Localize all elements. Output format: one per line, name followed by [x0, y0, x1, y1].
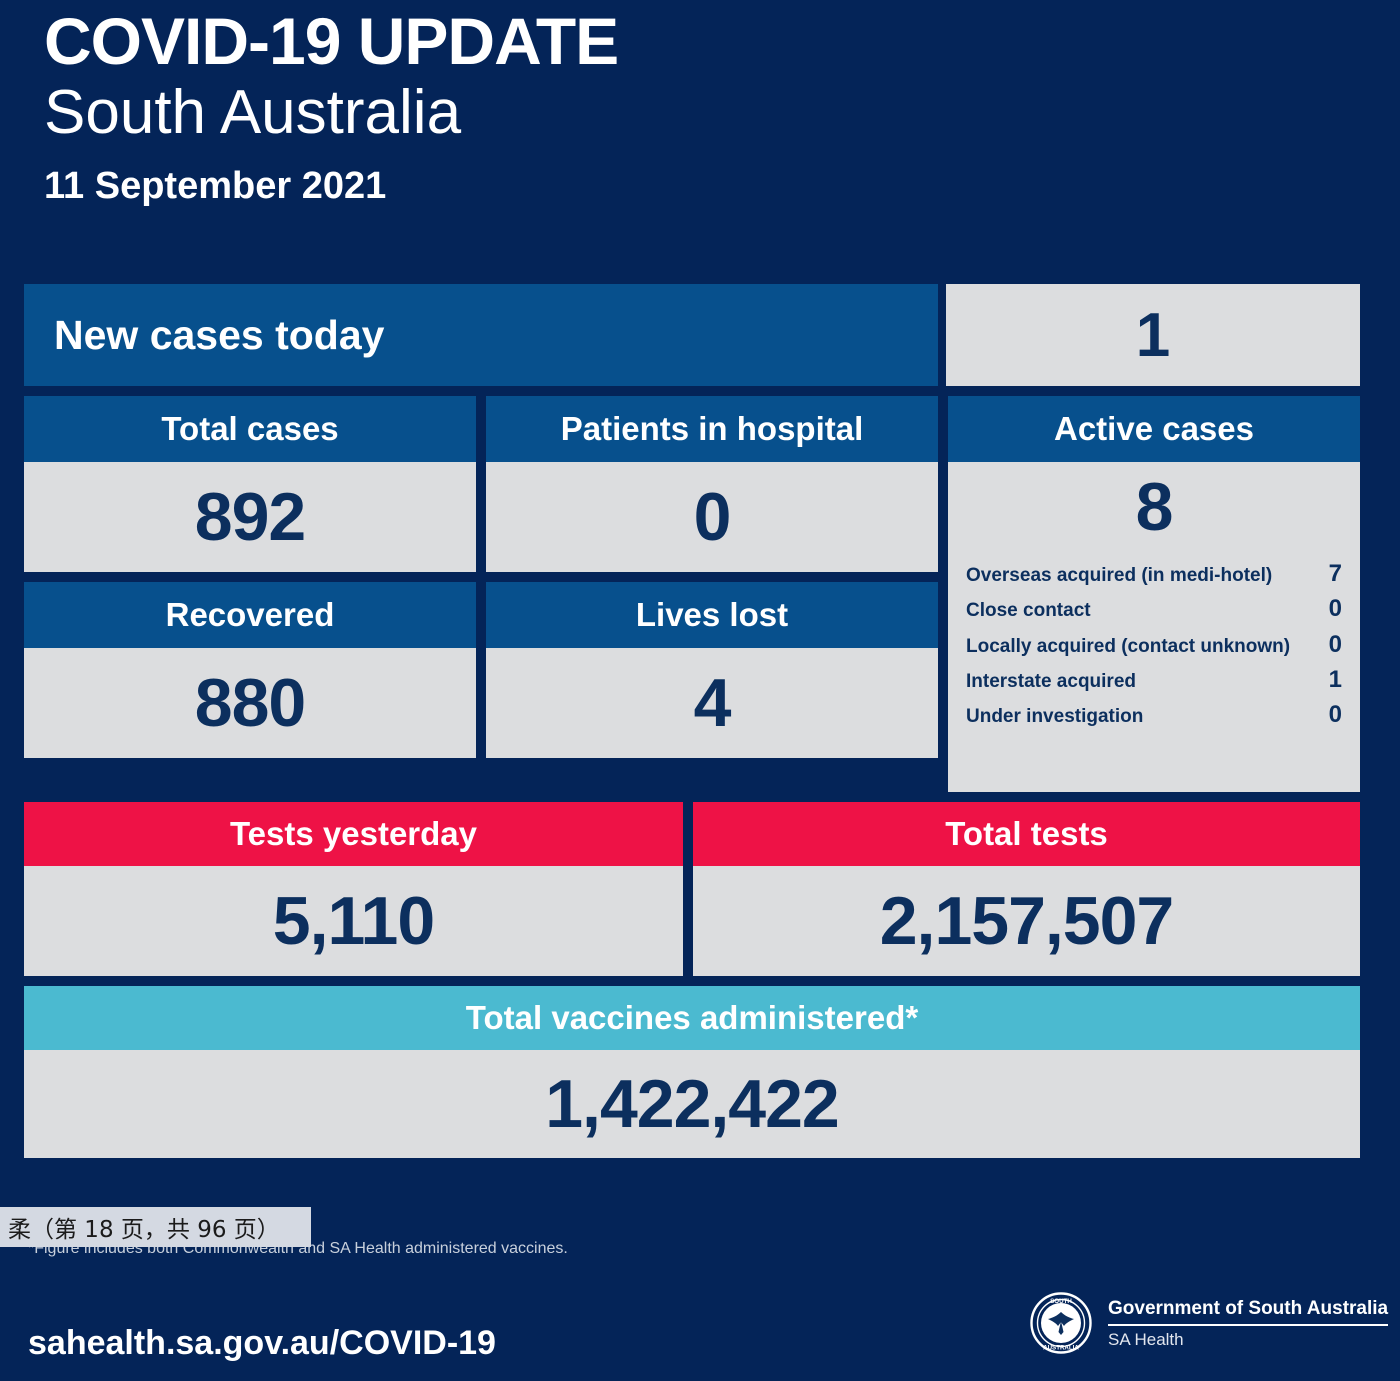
stat-label: Total cases — [161, 410, 338, 448]
page-title: COVID-19 UPDATE — [44, 8, 1044, 75]
stat-card-value-panel: 4 — [486, 648, 938, 758]
stat-label: Lives lost — [636, 596, 788, 634]
stat-card-lives-lost: Lives lost 4 — [486, 582, 938, 758]
total-tests-value-panel: 2,157,507 — [693, 866, 1360, 976]
new-cases-value: 1 — [1136, 300, 1170, 371]
breakdown-value: 0 — [1329, 628, 1342, 662]
stat-card-total-vaccines: Total vaccines administered* 1,422,422 — [24, 986, 1360, 1158]
breakdown-value: 0 — [1329, 698, 1342, 732]
tests-row: Tests yesterday 5,110 Total tests 2,157,… — [24, 802, 1360, 976]
breakdown-label: Locally acquired (contact unknown) — [966, 634, 1290, 661]
stat-card-header: Lives lost — [486, 582, 938, 648]
government-name: Government of South Australia — [1108, 1297, 1388, 1321]
stat-label: Patients in hospital — [561, 410, 864, 448]
breakdown-value: 7 — [1329, 557, 1342, 591]
new-cases-value-panel: 1 — [946, 284, 1360, 386]
vaccines-header: Total vaccines administered* — [24, 986, 1360, 1050]
vaccines-value-panel: 1,422,422 — [24, 1050, 1360, 1158]
tests-yesterday-header: Tests yesterday — [24, 802, 683, 866]
stats-row-1: Total cases 892 Patients in hospital 0 — [24, 396, 938, 572]
active-cases-header: Active cases — [948, 396, 1360, 462]
svg-text:SOUTH: SOUTH — [1050, 1298, 1072, 1305]
tests-yesterday-value-panel: 5,110 — [24, 866, 683, 976]
website-url[interactable]: sahealth.sa.gov.au/COVID-19 — [28, 1324, 496, 1363]
south-australia-seal-icon: SOUTH AUSTRALIA — [1030, 1292, 1092, 1354]
new-cases-label-panel: New cases today — [24, 284, 938, 386]
stat-value: 0 — [694, 478, 731, 556]
breakdown-label: Overseas acquired (in medi-hotel) — [966, 563, 1272, 590]
vaccines-value: 1,422,422 — [545, 1065, 839, 1143]
stat-card-header: Total cases — [24, 396, 476, 462]
breakdown-row: Under investigation 0 — [962, 698, 1346, 732]
page-header: COVID-19 UPDATE South Australia 11 Septe… — [44, 8, 1044, 208]
active-cases-value: 8 — [1136, 472, 1173, 543]
stat-card-value-panel: 880 — [24, 648, 476, 758]
breakdown-row: Close contact 0 — [962, 592, 1346, 626]
stat-card-tests-yesterday: Tests yesterday 5,110 — [24, 802, 683, 976]
stat-card-header: Patients in hospital — [486, 396, 938, 462]
logo-divider — [1108, 1324, 1388, 1326]
stats-row-2: Recovered 880 Lives lost 4 — [24, 582, 938, 758]
breakdown-row: Interstate acquired 1 — [962, 663, 1346, 697]
new-cases-row: New cases today 1 — [24, 284, 1360, 386]
stat-value: 4 — [694, 664, 731, 742]
stat-card-recovered: Recovered 880 — [24, 582, 476, 758]
page-indicator-overlay: 柔（第 18 页，共 96 页） — [0, 1207, 311, 1247]
tests-yesterday-label: Tests yesterday — [230, 815, 477, 853]
total-tests-value: 2,157,507 — [880, 882, 1174, 960]
stat-value: 892 — [195, 478, 305, 556]
breakdown-row: Locally acquired (contact unknown) 0 — [962, 628, 1346, 662]
stat-card-header: Recovered — [24, 582, 476, 648]
svg-text:AUSTRALIA: AUSTRALIA — [1043, 1345, 1079, 1352]
active-cases-card: Active cases 8 Overseas acquired (in med… — [948, 396, 1360, 792]
covid-update-infographic: COVID-19 UPDATE South Australia 11 Septe… — [0, 0, 1400, 1381]
active-cases-breakdown: Overseas acquired (in medi-hotel) 7 Clos… — [962, 557, 1346, 731]
government-logo: SOUTH AUSTRALIA Government of South Aust… — [1030, 1292, 1388, 1354]
new-cases-label: New cases today — [54, 312, 384, 359]
breakdown-label: Interstate acquired — [966, 669, 1136, 696]
page-subtitle: South Australia — [44, 77, 1044, 148]
breakdown-label: Close contact — [966, 598, 1091, 625]
vaccines-label: Total vaccines administered* — [466, 999, 918, 1037]
tests-yesterday-value: 5,110 — [273, 882, 434, 960]
breakdown-value: 1 — [1329, 663, 1342, 697]
total-tests-label: Total tests — [945, 815, 1108, 853]
active-cases-label: Active cases — [1054, 410, 1254, 448]
stats-grid: New cases today 1 Total cases 892 — [24, 284, 1360, 1158]
middle-block: Total cases 892 Patients in hospital 0 — [24, 396, 1360, 792]
stat-card-total-tests: Total tests 2,157,507 — [693, 802, 1360, 976]
breakdown-row: Overseas acquired (in medi-hotel) 7 — [962, 557, 1346, 591]
agency-name: SA Health — [1108, 1330, 1388, 1350]
stat-card-value-panel: 0 — [486, 462, 938, 572]
government-logo-text: Government of South Australia SA Health — [1108, 1295, 1388, 1350]
stat-label: Recovered — [166, 596, 335, 634]
stat-value: 880 — [195, 664, 305, 742]
active-cases-body: 8 Overseas acquired (in medi-hotel) 7 Cl… — [948, 462, 1360, 792]
breakdown-value: 0 — [1329, 592, 1342, 626]
report-date: 11 September 2021 — [44, 165, 1044, 209]
stat-card-total-cases: Total cases 892 — [24, 396, 476, 572]
breakdown-label: Under investigation — [966, 704, 1143, 731]
left-stats-column: Total cases 892 Patients in hospital 0 — [24, 396, 938, 792]
stat-card-value-panel: 892 — [24, 462, 476, 572]
total-tests-header: Total tests — [693, 802, 1360, 866]
stat-card-patients-in-hospital: Patients in hospital 0 — [486, 396, 938, 572]
